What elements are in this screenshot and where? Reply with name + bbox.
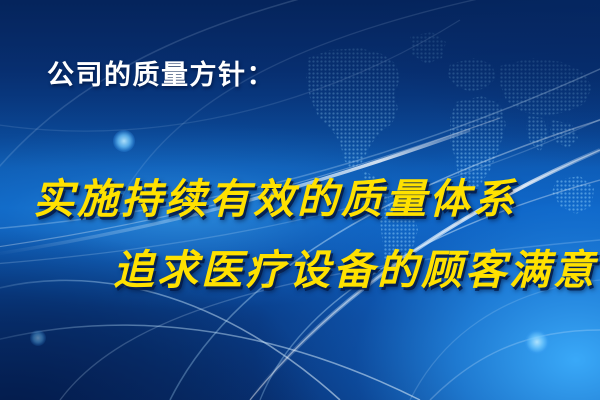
slogan-line-2: 追求医疗设备的顾客满意	[113, 236, 597, 296]
network-node-icon	[525, 330, 549, 354]
page-title: 公司的质量方针：	[47, 53, 275, 92]
network-node-icon	[113, 130, 135, 152]
network-node-icon	[30, 330, 46, 346]
quality-policy-banner: 公司的质量方针： 实施持续有效的质量体系 追求医疗设备的顾客满意	[0, 0, 600, 400]
slogan-line-1: 实施持续有效的质量体系	[33, 165, 517, 225]
